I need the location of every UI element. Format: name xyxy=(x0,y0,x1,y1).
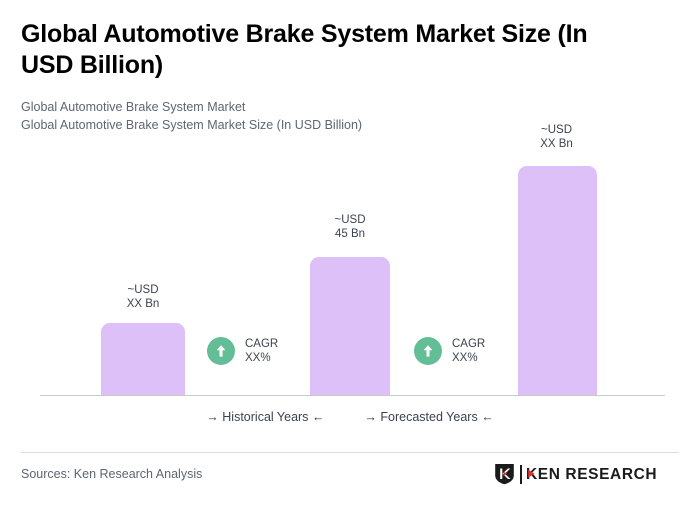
bar-value-label-2: ~USD 45 Bn xyxy=(310,213,390,241)
period-legend-forecasted: → Forecasted Years ← xyxy=(364,408,493,426)
cagr-badge-2-line2: XX% xyxy=(452,351,485,365)
bar-value-label-1: ~USD XX Bn xyxy=(101,283,185,311)
arrow-left-icon: ← xyxy=(312,410,325,424)
cagr-badge-2: CAGR XX% xyxy=(414,337,485,365)
plot-area: ~USD XX Bn ~USD 45 Bn ~USD XX Bn CAGR XX… xyxy=(0,0,700,440)
arrow-up-icon xyxy=(414,337,442,365)
arrow-left-icon: ← xyxy=(481,410,494,424)
ken-research-shield-icon xyxy=(494,463,515,485)
axis-baseline xyxy=(40,395,665,396)
bar-value-label-1-line2: XX Bn xyxy=(101,297,185,311)
cagr-badge-1-text: CAGR XX% xyxy=(245,337,278,365)
cagr-badge-1: CAGR XX% xyxy=(207,337,278,365)
bar-value-label-3: ~USD XX Bn xyxy=(517,123,596,151)
bar-value-label-1-line1: ~USD xyxy=(101,283,185,297)
period-legend-historical: → Historical Years ← xyxy=(206,408,324,426)
bar-value-label-2-line1: ~USD xyxy=(310,213,390,227)
ken-research-wordmark: KEN RESEARCH xyxy=(526,465,678,483)
brand-divider xyxy=(520,465,522,484)
sources-text: Sources: Ken Research Analysis xyxy=(21,466,202,482)
bar-3[interactable] xyxy=(518,166,597,395)
arrow-up-icon xyxy=(207,337,235,365)
arrow-right-icon: → xyxy=(364,410,377,424)
brand-logo: KEN RESEARCH xyxy=(494,463,678,485)
period-legend-forecasted-label: Forecasted Years xyxy=(380,410,477,424)
bar-value-label-3-line1: ~USD xyxy=(517,123,596,137)
bar-value-label-2-line2: 45 Bn xyxy=(310,227,390,241)
footer-divider xyxy=(21,452,679,453)
cagr-badge-2-line1: CAGR xyxy=(452,337,485,351)
cagr-badge-1-line1: CAGR xyxy=(245,337,278,351)
period-legend: → Historical Years ← → Forecasted Years … xyxy=(0,408,700,426)
arrow-right-icon: → xyxy=(206,410,219,424)
period-legend-historical-label: Historical Years xyxy=(222,410,308,424)
svg-text:KEN RESEARCH: KEN RESEARCH xyxy=(526,466,657,483)
bar-2[interactable] xyxy=(310,257,390,395)
bar-1[interactable] xyxy=(101,323,185,395)
cagr-badge-2-text: CAGR XX% xyxy=(452,337,485,365)
cagr-badge-1-line2: XX% xyxy=(245,351,278,365)
chart-page: Global Automotive Brake System Market Si… xyxy=(0,0,700,520)
bar-value-label-3-line2: XX Bn xyxy=(517,137,596,151)
